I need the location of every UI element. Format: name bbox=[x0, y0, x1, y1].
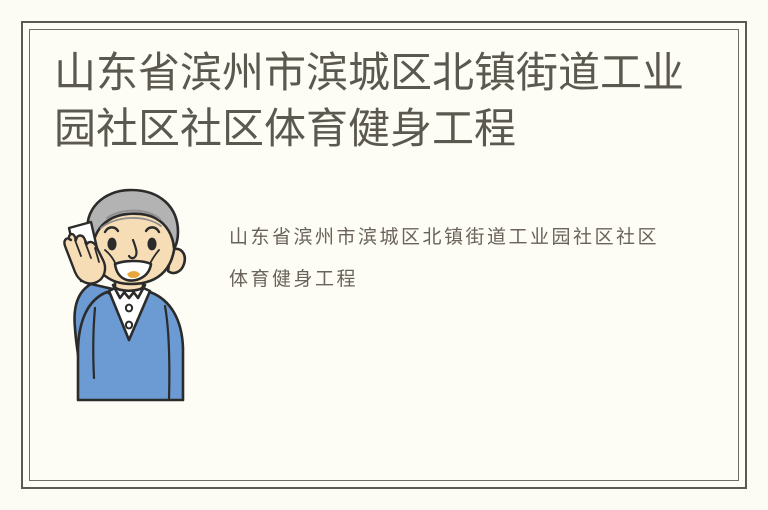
content-card: 山东省滨州市滨城区北镇街道工业园社区社区体育健身工程 bbox=[21, 21, 747, 489]
body-text: 山东省滨州市滨城区北镇街道工业园社区社区体育健身工程 bbox=[229, 216, 659, 300]
page-title: 山东省滨州市滨城区北镇街道工业园社区社区体育健身工程 bbox=[54, 45, 694, 157]
card-content: 山东省滨州市滨城区北镇街道工业园社区社区体育健身工程 bbox=[23, 178, 745, 487]
elderly-man-on-phone-illustration bbox=[47, 188, 207, 423]
